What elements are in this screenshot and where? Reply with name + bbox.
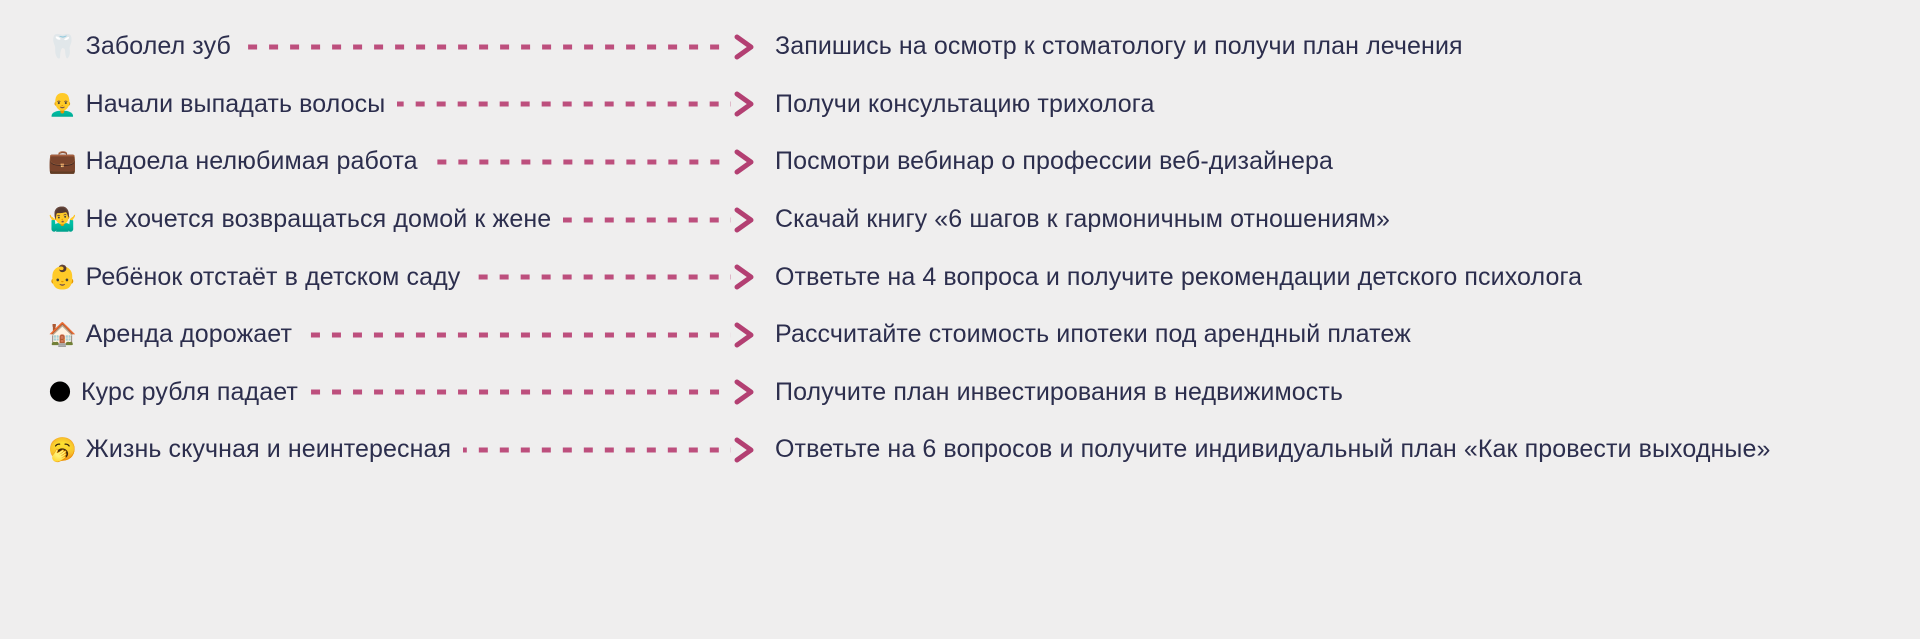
chevron-right-icon: [731, 435, 757, 465]
tooth-emoji: 🦷: [48, 36, 77, 59]
action-label: Рассчитайте стоимость ипотеки под арендн…: [775, 322, 1411, 347]
action-label: Запишись на осмотр к стоматологу и получ…: [775, 34, 1463, 59]
problem-block: 💼Надоела нелюбимая работа: [0, 133, 418, 191]
chevron-right-icon: [731, 205, 757, 235]
bald-man-emoji: 👨‍🦲: [48, 94, 77, 117]
problem-label: Аренда дорожает: [86, 322, 292, 347]
chevron-right-icon: [731, 377, 757, 407]
action-block: Рассчитайте стоимость ипотеки под арендн…: [775, 306, 1411, 364]
action-label: Скачай книгу «6 шагов к гармоничным отно…: [775, 207, 1390, 232]
problem-label: Надоела нелюбимая работа: [86, 149, 418, 174]
problem-label: Заболел зуб: [86, 34, 231, 59]
action-block: Посмотри вебинар о профессии веб-дизайне…: [775, 133, 1333, 191]
problem-action-list: 🦷Заболел зубЗапишись на осмотр к стомато…: [0, 0, 1920, 639]
action-label: Ответьте на 6 вопросов и получите индиви…: [775, 437, 1771, 462]
action-block: Получи консультацию трихолога: [775, 76, 1154, 134]
action-label: Посмотри вебинар о профессии веб-дизайне…: [775, 149, 1333, 174]
problem-label: Жизнь скучная и неинтересная: [86, 437, 452, 462]
chevron-right-icon: [731, 147, 757, 177]
yawning-face-emoji: 🥱: [48, 439, 77, 462]
problem-block: 👶Ребёнок отстаёт в детском саду: [0, 248, 460, 306]
problem-block: 👨‍🦲Начали выпадать волосы: [0, 76, 385, 134]
action-block: Получите план инвестирования в недвижимо…: [775, 364, 1343, 422]
dashed-connector: [472, 275, 731, 280]
list-row: 👶Ребёнок отстаёт в детском садуОтветьте …: [0, 248, 1920, 306]
dashed-connector: [430, 159, 731, 164]
list-row: 🥱Жизнь скучная и неинтереснаяОтветьте на…: [0, 421, 1920, 479]
list-row: 👨‍🦲Начали выпадать волосыПолучи консульт…: [0, 76, 1920, 134]
action-block: Скачай книгу «6 шагов к гармоничным отно…: [775, 191, 1390, 249]
problem-block: 🦷Заболел зуб: [0, 18, 231, 76]
dashed-connector: [304, 332, 731, 337]
problem-block: 🤷‍♂️Не хочется возвращаться домой к жене: [0, 191, 551, 249]
list-row: 🦷Заболел зубЗапишись на осмотр к стомато…: [0, 18, 1920, 76]
chevron-right-icon: [731, 320, 757, 350]
action-block: Запишись на осмотр к стоматологу и получ…: [775, 18, 1463, 76]
action-label: Получи консультацию трихолога: [775, 92, 1154, 117]
dashed-connector: [243, 44, 731, 49]
man-shrugging-emoji: 🤷‍♂️: [48, 209, 77, 232]
list-row: 🌑Курс рубля падаетПолучите план инвестир…: [0, 364, 1920, 422]
problem-block: 🌑Курс рубля падает: [0, 364, 298, 422]
action-label: Получите план инвестирования в недвижимо…: [775, 380, 1343, 405]
dashed-connector: [563, 217, 731, 222]
list-row: 🏠Аренда дорожаетРассчитайте стоимость ип…: [0, 306, 1920, 364]
problem-label: Ребёнок отстаёт в детском саду: [86, 265, 461, 290]
problem-block: 🥱Жизнь скучная и неинтересная: [0, 421, 451, 479]
problem-block: 🏠Аренда дорожает: [0, 306, 292, 364]
rows-container: 🦷Заболел зубЗапишись на осмотр к стомато…: [0, 0, 1920, 639]
action-block: Ответьте на 6 вопросов и получите индиви…: [775, 421, 1771, 479]
action-label: Ответьте на 4 вопроса и получите рекомен…: [775, 265, 1582, 290]
list-row: 💼Надоела нелюбимая работаПосмотри вебина…: [0, 133, 1920, 191]
action-block: Ответьте на 4 вопроса и получите рекомен…: [775, 248, 1582, 306]
chevron-right-icon: [731, 262, 757, 292]
list-row: 🤷‍♂️Не хочется возвращаться домой к жене…: [0, 191, 1920, 249]
chevron-right-icon: [731, 89, 757, 119]
dashed-connector: [463, 447, 731, 452]
baby-emoji: 👶: [48, 267, 77, 290]
problem-label: Не хочется возвращаться домой к жене: [86, 207, 552, 232]
new-moon-emoji: 🌑: [48, 382, 72, 405]
dashed-connector: [397, 102, 731, 107]
dashed-connector: [310, 390, 731, 395]
problem-label: Начали выпадать волосы: [86, 92, 386, 117]
briefcase-emoji: 💼: [48, 151, 77, 174]
house-emoji: 🏠: [48, 324, 77, 347]
problem-label: Курс рубля падает: [81, 380, 298, 405]
chevron-right-icon: [731, 32, 757, 62]
